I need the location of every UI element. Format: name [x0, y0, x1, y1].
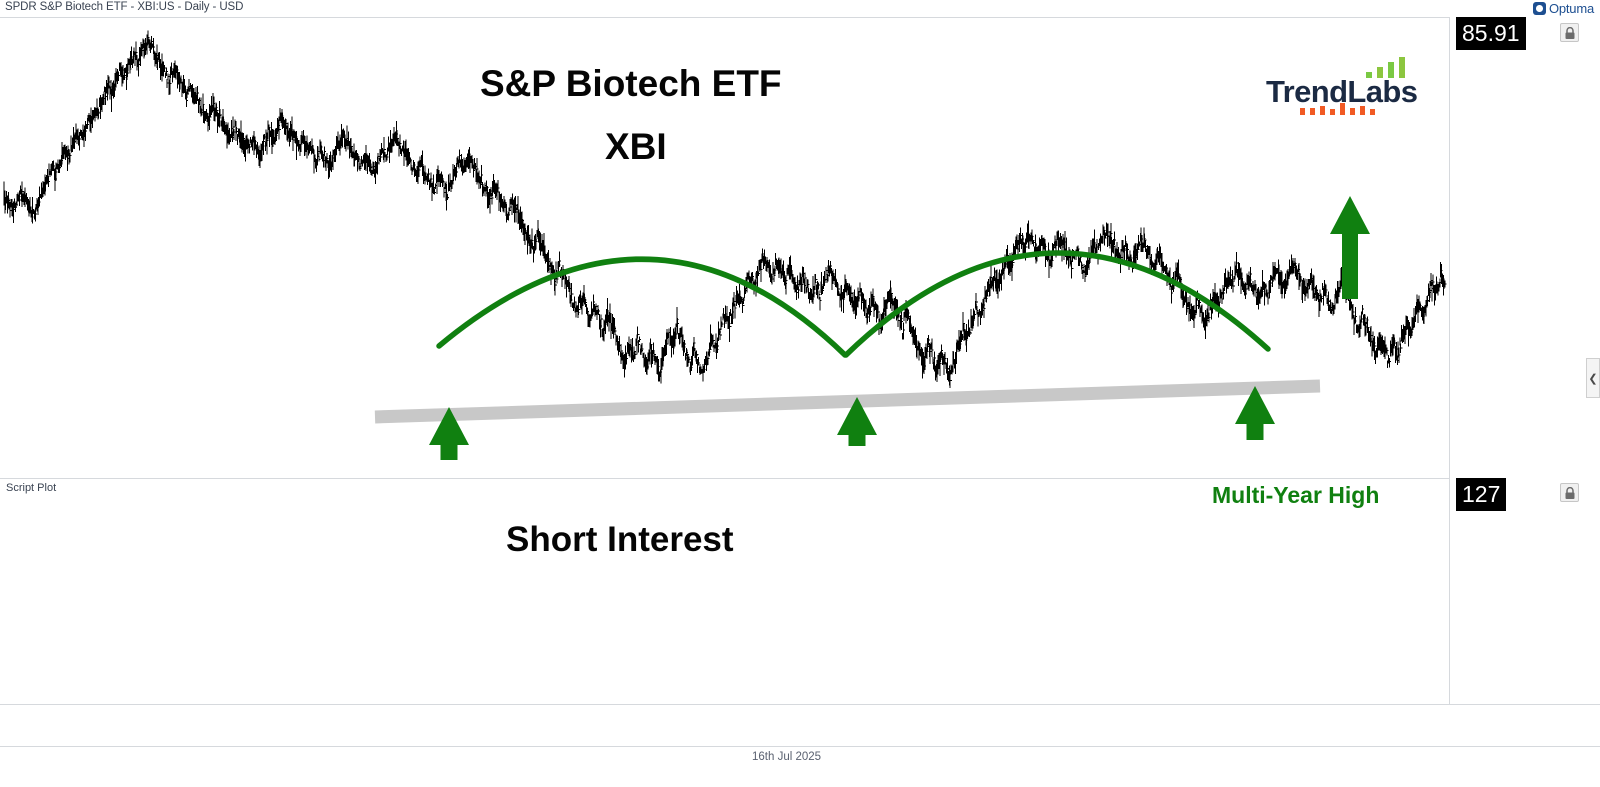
page-subtitle: XBI	[605, 126, 667, 169]
indicator-axis-lock-button[interactable]	[1560, 483, 1579, 502]
panel-collapse-button[interactable]: ❮	[1586, 358, 1600, 398]
date-x-axis[interactable]	[0, 704, 1449, 747]
price-y-axis[interactable]: 85.91	[1449, 17, 1600, 478]
current-indicator-badge: 127	[1456, 478, 1506, 511]
as-of-date-label: 16th Jul 2025	[752, 751, 821, 763]
price-chart-pane[interactable]: S&P Biotech ETF XBI TrendLabs	[0, 17, 1449, 478]
page-title: S&P Biotech ETF	[480, 63, 782, 106]
header-bar: SPDR S&P Biotech ETF - XBI:US - Daily - …	[0, 0, 1600, 17]
current-price-badge: 85.91	[1456, 17, 1526, 50]
lock-icon	[1564, 487, 1576, 500]
indicator-chart-pane[interactable]: Script Plot	[0, 478, 1449, 704]
indicator-y-axis[interactable]: 127	[1449, 478, 1600, 704]
trendlabs-label: TrendLabs	[1266, 74, 1417, 110]
indicator-pane-label: Script Plot	[6, 482, 56, 494]
security-title: SPDR S&P Biotech ETF - XBI:US - Daily - …	[5, 1, 243, 13]
multi-year-high-annotation: Multi-Year High	[1212, 482, 1379, 509]
optuma-wordmark: Optuma	[1549, 1, 1594, 16]
optuma-logo: Optuma	[1533, 1, 1594, 16]
lock-icon	[1564, 27, 1576, 40]
indicator-chart-canvas	[0, 479, 1449, 705]
optuma-mark-icon	[1533, 2, 1546, 15]
chart-application: SPDR S&P Biotech ETF - XBI:US - Daily - …	[0, 0, 1600, 787]
indicator-title: Short Interest	[506, 520, 734, 560]
date-axis-corner	[1449, 704, 1600, 747]
trendlabs-watermark: TrendLabs	[1266, 56, 1431, 118]
price-axis-lock-button[interactable]	[1560, 23, 1579, 42]
